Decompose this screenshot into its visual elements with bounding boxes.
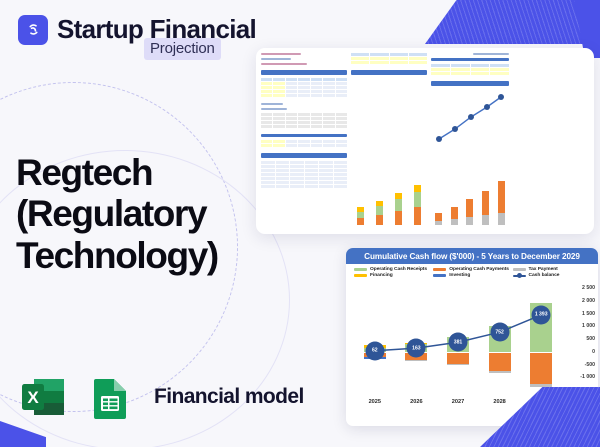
y-tick-label: -1 000 <box>580 374 595 380</box>
footer-format-row: X Financial model <box>18 371 304 423</box>
corner-stripes-top-right <box>425 0 600 44</box>
x-tick-label: 2026 <box>405 399 427 405</box>
legend-item: Cash balance <box>513 273 592 278</box>
legend-swatch <box>433 274 446 278</box>
promo-banner: Startup Financial Projection Regtech (Re… <box>0 0 600 447</box>
y-axis-ticks: 2 5002 0001 5001 0005000-500-1 000-1 500 <box>565 285 595 393</box>
legend-swatch <box>354 268 367 272</box>
legend-item: Investing <box>433 273 512 278</box>
chart-legend: Operating Cash ReceiptsOperating Cash Pa… <box>346 264 598 280</box>
legend-swatch <box>513 275 526 277</box>
y-tick-label: 2 500 <box>582 285 595 291</box>
cash-balance-point: 62 <box>365 341 384 360</box>
cash-balance-point: 163 <box>407 339 426 358</box>
chart-title: Cumulative Cash flow ($'000) - 5 Years t… <box>346 248 598 264</box>
y-tick-label: 1 500 <box>582 311 595 317</box>
legend-label: Investing <box>449 273 470 278</box>
y-tick-label: 2 000 <box>582 298 595 304</box>
legend-swatch <box>513 268 526 272</box>
y-tick-label: 0 <box>592 349 595 355</box>
legend-swatch <box>433 268 446 272</box>
legend-label: Operating Cash Payments <box>449 267 509 272</box>
swirl-e-icon <box>18 15 48 45</box>
legend-label: Operating Cash Receipts <box>370 267 427 272</box>
cash-balance-point: 381 <box>449 333 468 352</box>
y-tick-label: 500 <box>586 336 595 342</box>
google-sheets-icon <box>84 371 136 423</box>
svg-text:X: X <box>27 388 39 407</box>
legend-label: Financing <box>370 273 393 278</box>
legend-item: Operating Cash Receipts <box>354 267 433 272</box>
brand-subtitle: Projection <box>144 38 221 60</box>
footer-label: Financial model <box>154 385 304 409</box>
legend-swatch <box>354 274 367 278</box>
cash-balance-point: 752 <box>490 323 509 342</box>
x-tick-label: 2028 <box>489 399 511 405</box>
y-tick-label: 1 000 <box>582 323 595 329</box>
legend-item: Operating Cash Payments <box>433 267 512 272</box>
legend-item: Financing <box>354 273 433 278</box>
legend-label: Tax Payment <box>529 267 558 272</box>
x-tick-label: 2027 <box>447 399 469 405</box>
x-tick-label: 2025 <box>364 399 386 405</box>
legend-label: Cash balance <box>529 273 560 278</box>
microsoft-excel-icon: X <box>18 371 70 423</box>
y-tick-label: -500 <box>585 362 595 368</box>
legend-item: Tax Payment <box>513 267 592 272</box>
spreadsheet-dashboard-preview <box>256 48 594 234</box>
cash-balance-point: 1 393 <box>532 305 551 324</box>
